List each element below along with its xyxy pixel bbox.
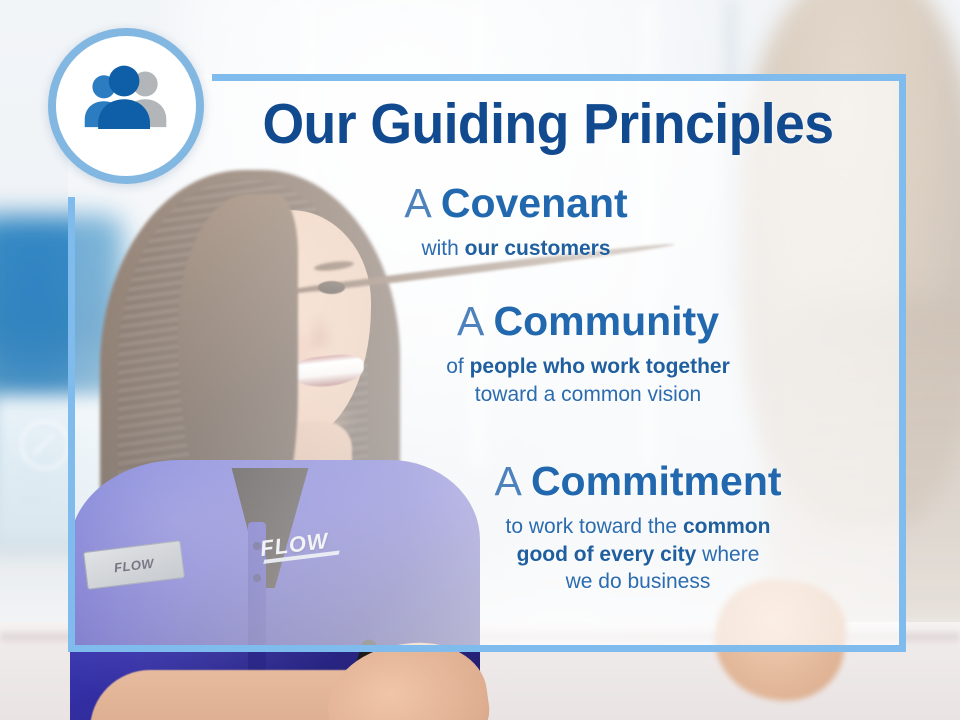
principle-headline: A Commitment bbox=[398, 460, 878, 503]
subtext-run: to work toward the bbox=[506, 515, 683, 538]
subtext-line: with our customers bbox=[306, 235, 726, 263]
principle-headline: A Community bbox=[358, 300, 818, 343]
subtext-run: we do business bbox=[566, 570, 711, 593]
subtext-emphasis: our customers bbox=[465, 237, 611, 260]
subtext-run: of bbox=[446, 355, 469, 378]
content-area: Our Guiding Principles A Covenant with o… bbox=[68, 74, 906, 652]
principle-article: A bbox=[494, 458, 519, 504]
principle-subtext: to work toward the commongood of every c… bbox=[398, 513, 878, 596]
principle-keyword: Covenant bbox=[441, 180, 628, 226]
subtext-line: good of every city where bbox=[398, 541, 878, 569]
principle-keyword: Commitment bbox=[531, 458, 782, 504]
subtext-run: where bbox=[696, 543, 759, 566]
principle-block-community: A Community of people who work togethert… bbox=[358, 300, 818, 408]
subtext-emphasis: people who work together bbox=[470, 355, 730, 378]
principle-subtext: of people who work togethertoward a comm… bbox=[358, 353, 818, 408]
guiding-principles-graphic: FLOW FLOW Our Guidin bbox=[0, 0, 960, 720]
subtext-emphasis: good of every city bbox=[517, 543, 697, 566]
page-title: Our Guiding Principles bbox=[238, 96, 858, 153]
principle-subtext: with our customers bbox=[306, 235, 726, 263]
principle-headline: A Covenant bbox=[306, 182, 726, 225]
principle-article: A bbox=[457, 298, 482, 344]
subtext-line: to work toward the common bbox=[398, 513, 878, 541]
subtext-run: with bbox=[421, 237, 464, 260]
subtext-line: of people who work together bbox=[358, 353, 818, 381]
principle-keyword: Community bbox=[494, 298, 720, 344]
subtext-emphasis: common bbox=[683, 515, 771, 538]
principle-article: A bbox=[404, 180, 429, 226]
principle-block-commitment: A Commitment to work toward the commongo… bbox=[398, 460, 878, 596]
subtext-run: toward a common vision bbox=[475, 383, 701, 406]
subtext-line: toward a common vision bbox=[358, 381, 818, 409]
subtext-line: we do business bbox=[398, 568, 878, 596]
principle-block-covenant: A Covenant with our customers bbox=[306, 182, 726, 263]
